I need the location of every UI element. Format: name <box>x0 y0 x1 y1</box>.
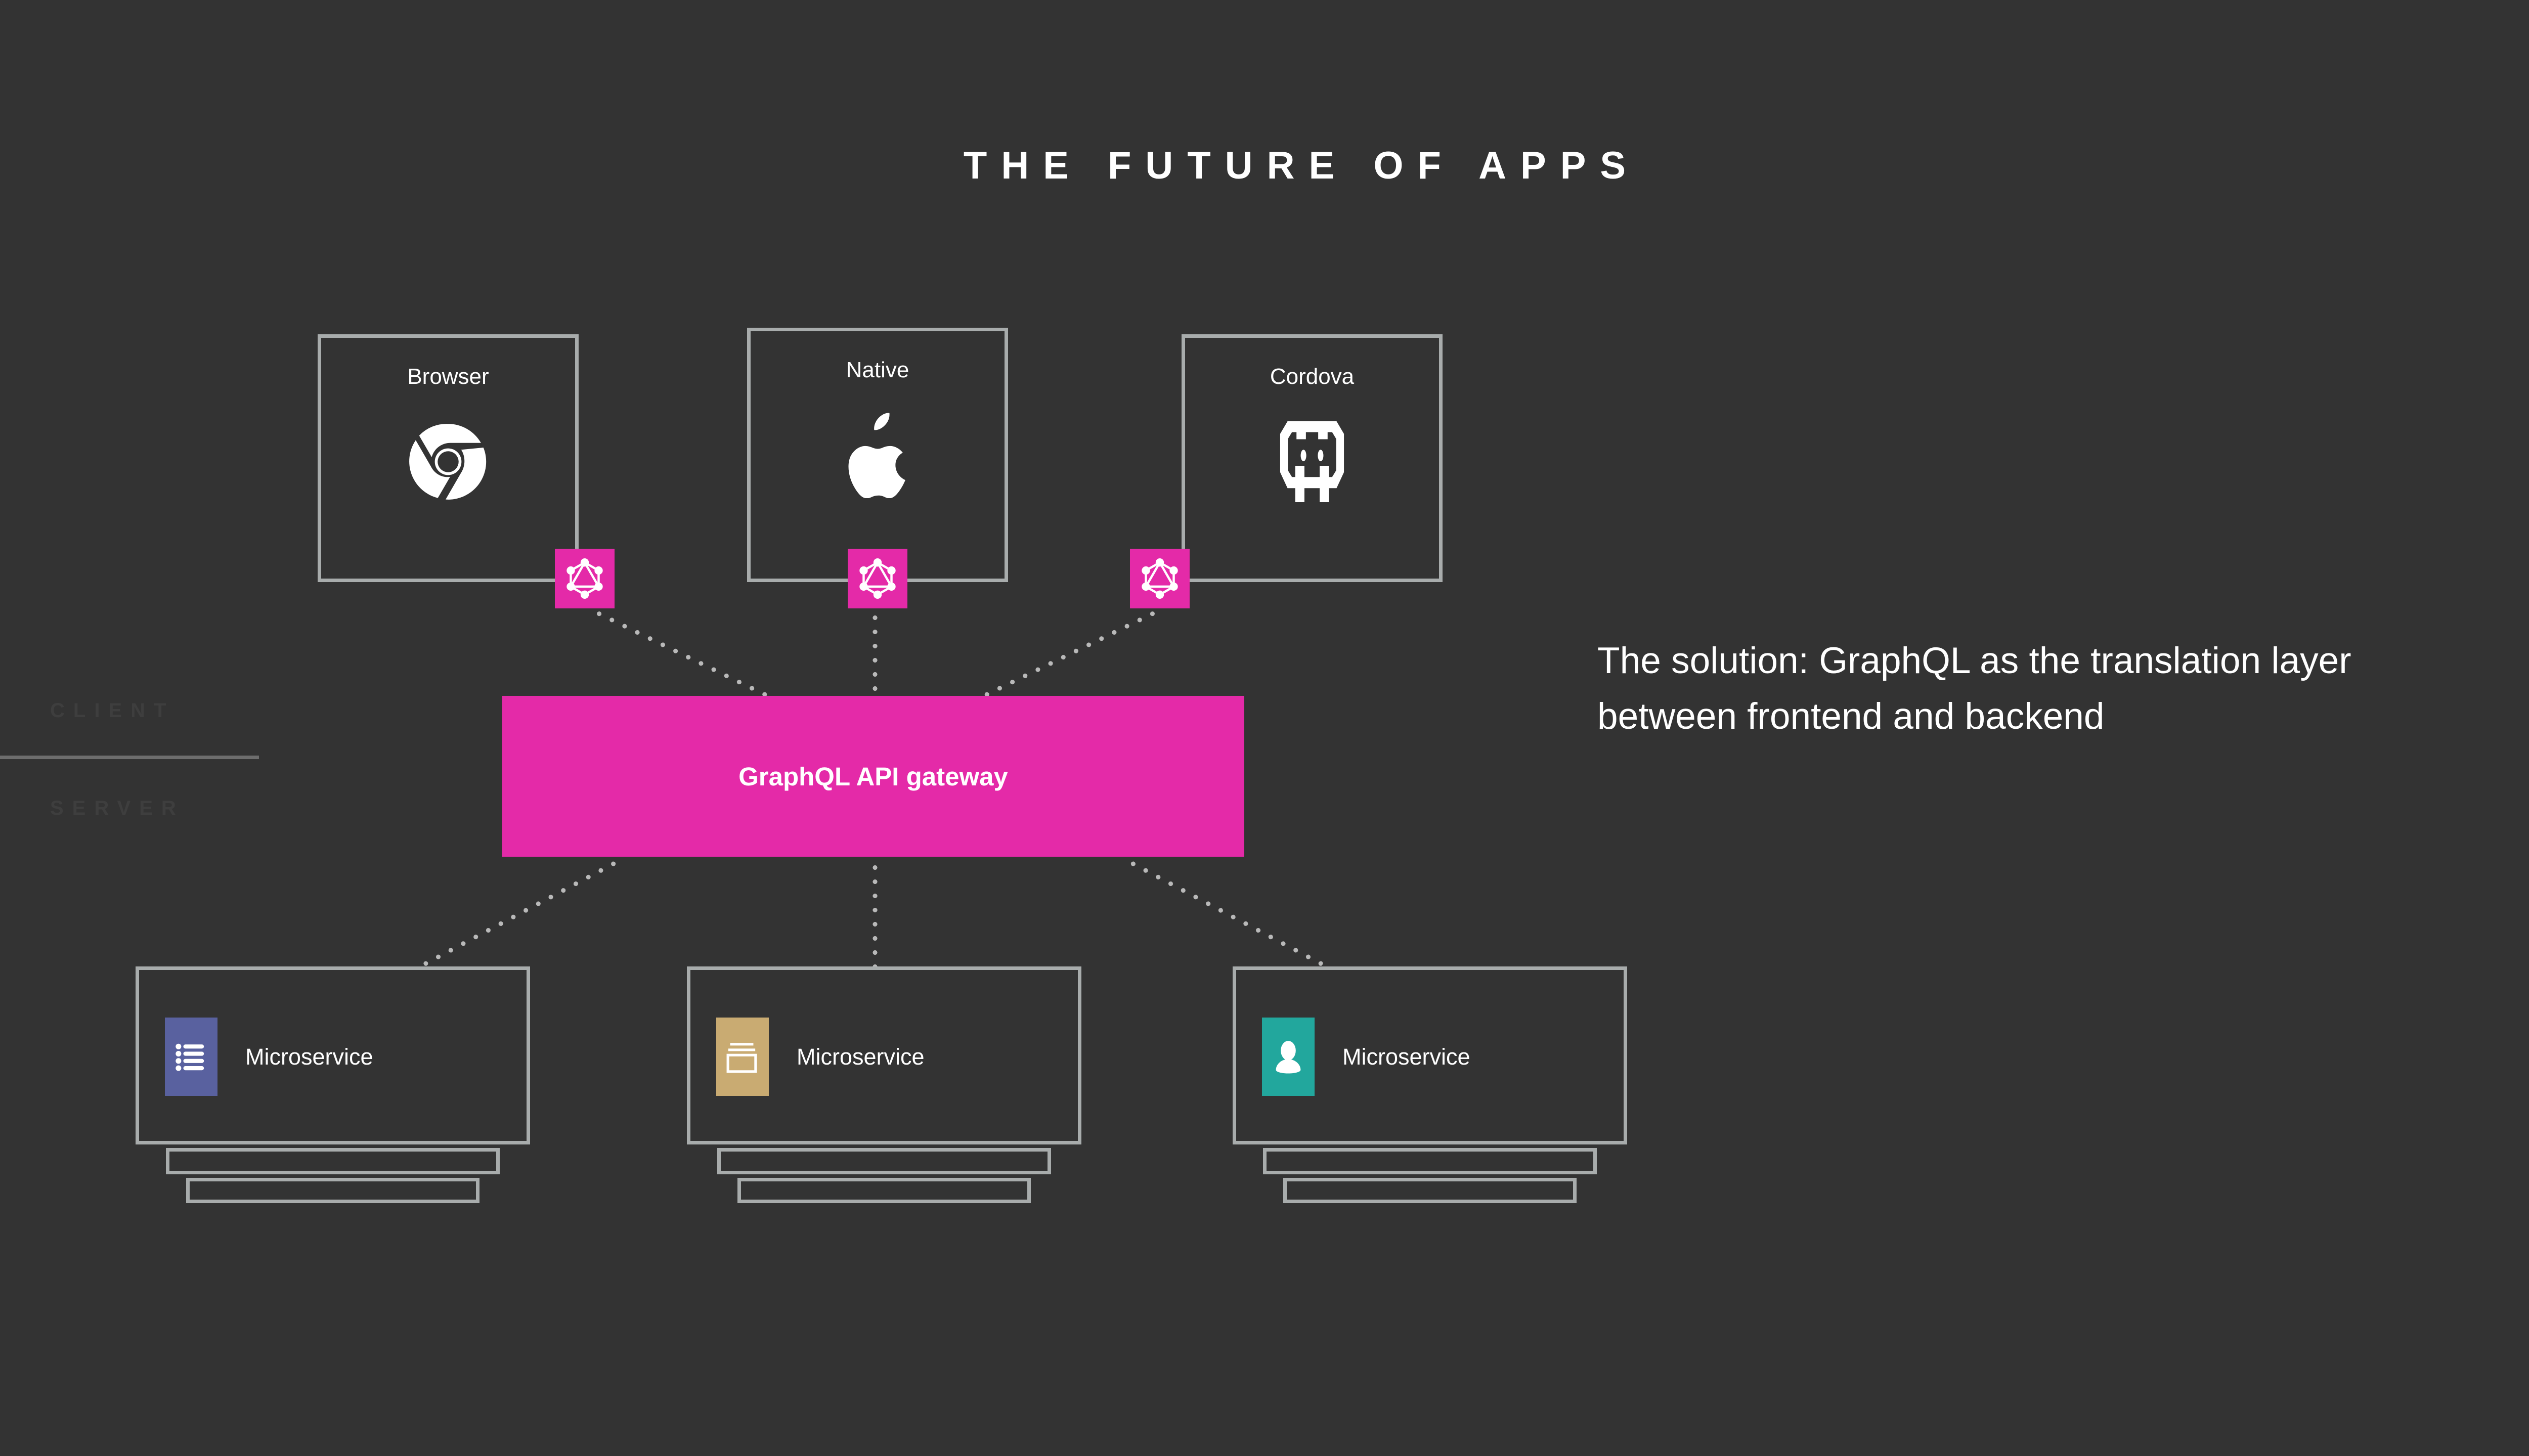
slide-canvas: THE FUTURE OF APPS CLIENT SERVER Browser… <box>0 0 2529 1456</box>
band-label-server: SERVER <box>41 798 185 818</box>
connector-gateway-microservice-3 <box>1126 859 1324 967</box>
graphql-api-gateway[interactable]: GraphQL API gateway <box>502 696 1244 857</box>
microservice-row: Microservice <box>165 1018 373 1096</box>
client-box-browser[interactable]: Browser <box>318 334 579 582</box>
server-stand-upper <box>166 1148 500 1174</box>
apple-logo-icon <box>835 412 921 498</box>
graphql-badge-browser[interactable] <box>555 549 615 608</box>
server-stand-upper <box>717 1148 1051 1174</box>
microservice-row: Microservice <box>716 1018 925 1096</box>
microservice-server-3[interactable]: Microservice <box>1233 966 1627 1197</box>
connector-gateway-microservice-1 <box>423 859 621 967</box>
server-stand-lower <box>186 1178 479 1203</box>
graphql-badge-cordova[interactable] <box>1130 549 1190 608</box>
archive-icon <box>716 1018 769 1096</box>
chrome-logo-icon <box>405 419 491 505</box>
microservice-label: Microservice <box>797 1045 925 1068</box>
gateway-label: GraphQL API gateway <box>738 764 1008 789</box>
solution-paragraph: The solution: GraphQL as the translation… <box>1597 633 2366 744</box>
client-label-cordova: Cordova <box>1185 366 1439 388</box>
connector-browser-gateway <box>592 608 772 699</box>
microservice-label: Microservice <box>1342 1045 1470 1068</box>
user-icon <box>1262 1018 1315 1096</box>
connector-native-gateway <box>873 611 878 700</box>
server-stand-upper <box>1263 1148 1597 1174</box>
client-label-browser: Browser <box>321 366 575 388</box>
server-stand-lower <box>1283 1178 1577 1203</box>
graphql-logo-icon <box>856 557 899 600</box>
page-title: THE FUTURE OF APPS <box>0 147 2529 185</box>
graphql-logo-icon <box>1138 557 1182 600</box>
connector-gateway-microservice-2 <box>873 861 878 969</box>
microservice-row: Microservice <box>1262 1018 1470 1096</box>
client-server-divider <box>0 756 259 759</box>
cordova-logo-icon <box>1269 419 1355 505</box>
connector-cordova-gateway <box>980 608 1160 699</box>
server-stand-lower <box>737 1178 1031 1203</box>
microservice-label: Microservice <box>245 1045 373 1068</box>
band-label-client: CLIENT <box>41 700 175 721</box>
graphql-badge-native[interactable] <box>848 549 907 608</box>
client-box-cordova[interactable]: Cordova <box>1182 334 1443 582</box>
microservice-server-2[interactable]: Microservice <box>687 966 1081 1197</box>
microservice-server-1[interactable]: Microservice <box>136 966 530 1197</box>
client-box-native[interactable]: Native <box>747 328 1008 582</box>
list-icon <box>165 1018 217 1096</box>
client-label-native: Native <box>751 359 1005 381</box>
graphql-logo-icon <box>563 557 606 600</box>
